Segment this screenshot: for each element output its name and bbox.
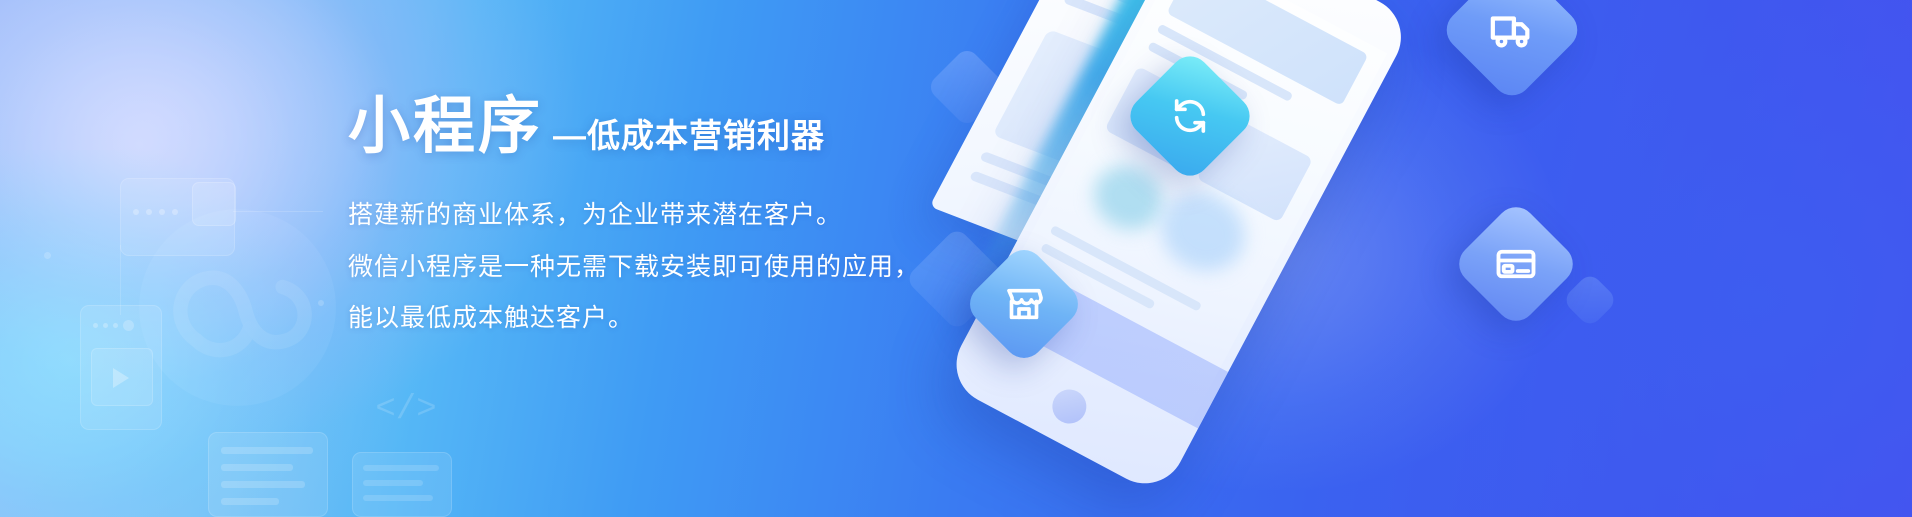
media-player-card-watermark	[80, 305, 162, 430]
hero-illustration	[880, 0, 1912, 517]
square-watermark	[192, 182, 236, 226]
description-line: 能以最低成本触达客户。	[348, 301, 948, 337]
dot-decoration	[318, 300, 324, 306]
player-toolbar	[93, 320, 134, 331]
description-line: 微信小程序是一种无需下载安装即可使用的应用，	[348, 250, 948, 286]
page-title: 小程序 —低成本营销利器	[348, 96, 948, 158]
play-icon	[113, 368, 129, 388]
banner-description: 搭建新的商业体系，为企业带来潜在客户。 微信小程序是一种无需下载安装即可使用的应…	[348, 198, 948, 337]
title-main: 小程序	[348, 96, 543, 158]
window-card-watermark	[120, 178, 235, 256]
window-dots	[133, 209, 178, 215]
sync-icon	[1170, 96, 1210, 136]
background-glow-top-left	[0, 0, 400, 380]
code-brackets-icon: </>	[374, 378, 438, 442]
wechat-mini-program-logo-watermark	[135, 205, 340, 410]
dot-decoration	[44, 252, 51, 259]
connector-line-vertical	[120, 245, 121, 315]
phone-home-button	[1046, 384, 1092, 430]
title-subtitle: —低成本营销利器	[553, 119, 825, 152]
connector-line-horizontal	[233, 211, 323, 212]
player-screen	[91, 348, 153, 406]
background-glow-left	[0, 150, 310, 517]
floating-chip	[1562, 272, 1619, 329]
list-card-watermark-secondary	[352, 452, 452, 517]
promo-banner: </> 小程序 —低成本营销利器 搭建新的商业体系，为企业带来潜在客户。 微信小…	[0, 0, 1912, 517]
shop-icon	[1004, 284, 1044, 324]
banner-text-block: 小程序 —低成本营销利器 搭建新的商业体系，为企业带来潜在客户。 微信小程序是一…	[348, 96, 948, 337]
truck-icon	[1489, 7, 1535, 53]
card-icon	[1495, 243, 1537, 285]
description-line: 搭建新的商业体系，为企业带来潜在客户。	[348, 198, 948, 234]
list-card-watermark	[208, 432, 328, 517]
